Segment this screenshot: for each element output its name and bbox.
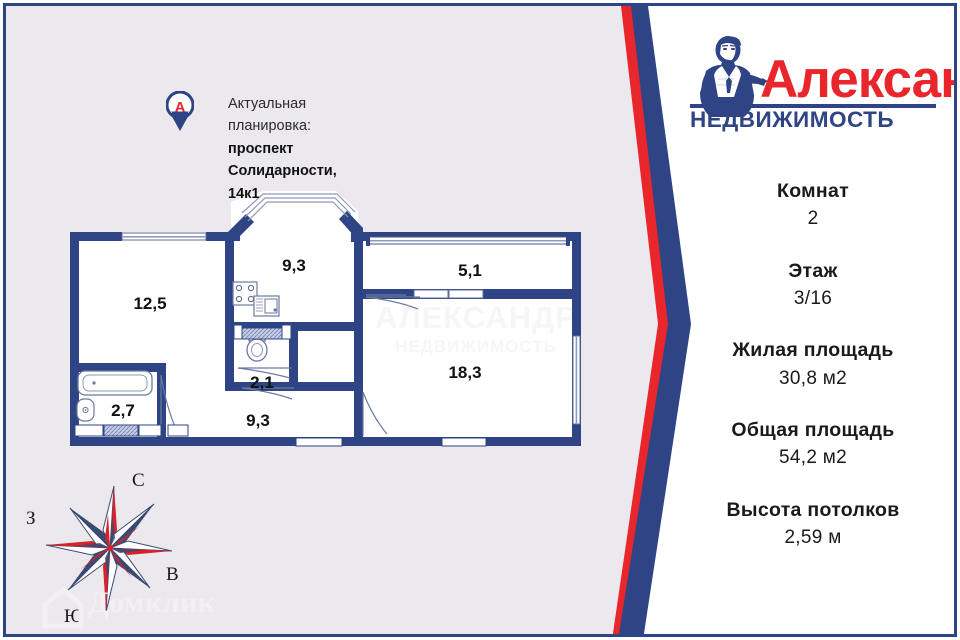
caption-label: Актуальная планировка: <box>228 93 337 138</box>
spec-label: Этаж <box>668 258 957 284</box>
caption-address: проспект Солидарности, 14к1 <box>228 138 337 205</box>
room-area-bathroom: 2,7 <box>111 401 135 420</box>
room-area-kitchen: 9,3 <box>282 256 306 275</box>
spec-label: Комнат <box>668 178 957 204</box>
spec-living-area: Жилая площадь 30,8 м2 <box>668 337 957 394</box>
spec-label: Общая площадь <box>668 417 957 443</box>
spec-value: 2 <box>668 204 957 234</box>
spec-rooms: Комнат 2 <box>668 178 957 235</box>
stove-icon <box>233 282 257 305</box>
compass-east-label: В <box>166 564 179 586</box>
room-area-loggia: 5,1 <box>458 261 482 280</box>
compass-north-label: С <box>132 470 145 492</box>
property-specs-list: Комнат 2 Этаж 3/16 Жилая площадь 30,8 м2… <box>668 178 957 577</box>
spec-floor: Этаж 3/16 <box>668 258 957 315</box>
plan-watermark: АЛЕКСАНДР НЕДВИЖИМОСТЬ <box>375 300 577 356</box>
room-area-wc: 2,1 <box>250 373 274 392</box>
map-pin-marker-a-icon: A <box>166 91 194 133</box>
brand-logo: Александр НЕДВИЖИМОСТЬ <box>684 31 949 156</box>
house-outline-icon <box>40 584 86 630</box>
spec-value: 2,59 м <box>668 523 957 553</box>
sink-icon <box>254 296 279 316</box>
spec-value: 30,8 м2 <box>668 364 957 394</box>
domklik-label: Домклик <box>88 586 216 620</box>
spec-label: Жилая площадь <box>668 337 957 363</box>
washbasin-icon <box>77 399 94 421</box>
room-area-hallway: 9,3 <box>246 411 270 430</box>
spec-ceiling-height: Высота потолков 2,59 м <box>668 497 957 554</box>
spec-label: Высота потолков <box>668 497 957 523</box>
compass-west-label: З <box>26 508 36 530</box>
page-frame: АЛЕКСАНДР НЕДВИЖИМОСТЬ <box>3 3 957 637</box>
spec-value: 54,2 м2 <box>668 443 957 473</box>
svg-text:НЕДВИЖИМОСТЬ: НЕДВИЖИМОСТЬ <box>395 337 557 356</box>
room-area-living-room: 12,5 <box>133 294 166 313</box>
floorplan-listing-page: АЛЕКСАНДР НЕДВИЖИМОСТЬ <box>0 0 960 640</box>
domklik-watermark: Домклик <box>40 584 240 632</box>
bathtub-icon <box>78 371 152 395</box>
spec-value: 3/16 <box>668 284 957 314</box>
brand-name: Александр <box>760 53 957 106</box>
spec-total-area: Общая площадь 54,2 м2 <box>668 417 957 474</box>
room-area-main-room: 18,3 <box>448 363 481 382</box>
brand-subtitle: НЕДВИЖИМОСТЬ <box>690 109 894 132</box>
